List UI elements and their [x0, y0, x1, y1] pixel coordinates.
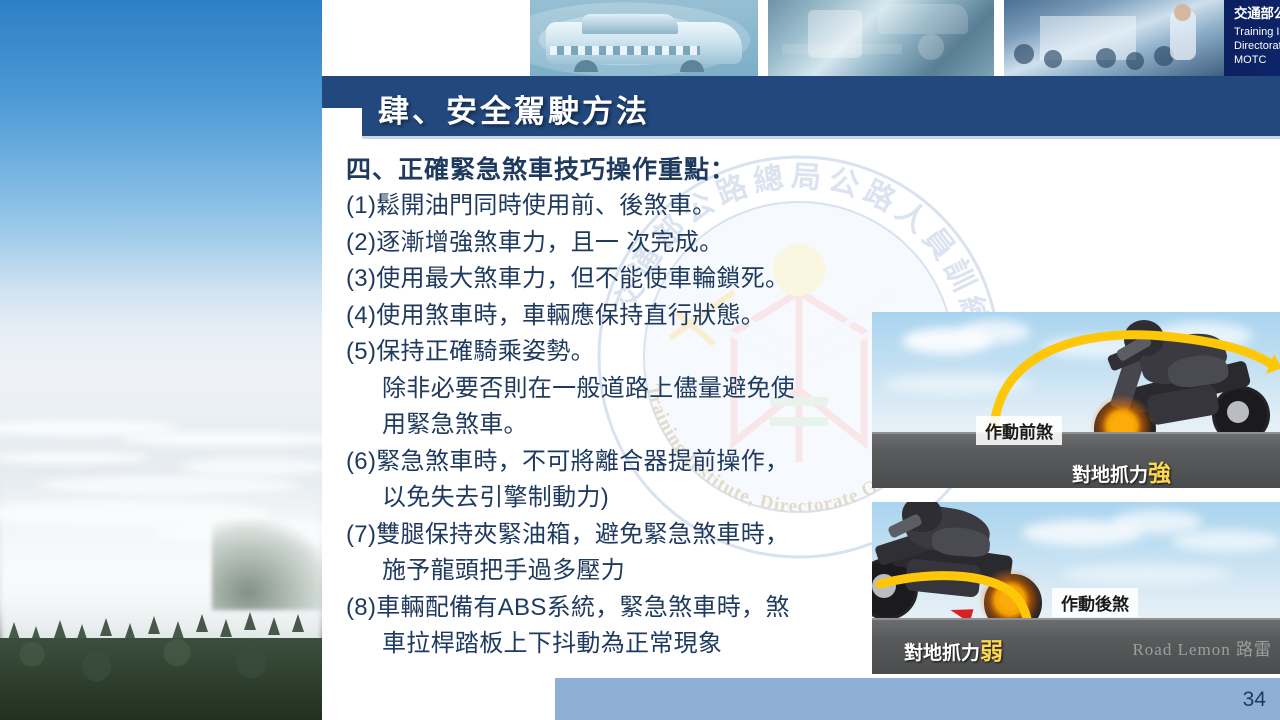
- content-heading: 四、正確緊急煞車技巧操作重點：: [346, 150, 906, 186]
- slide-footer-white: [322, 678, 555, 720]
- classroom-photo: [1004, 0, 1224, 76]
- slide-footer-bar: [555, 678, 1280, 720]
- content-line: (3)使用最大煞車力，但不能使車輪鎖死。: [346, 261, 906, 298]
- grip-value: 弱: [980, 638, 1003, 664]
- front-brake-figure: 作動前煞 對地抓力強: [872, 312, 1280, 488]
- page-title: 肆、安全駕駛方法: [378, 86, 1078, 131]
- content-line: 施予龍頭把手過多壓力: [346, 553, 906, 590]
- institute-brand-panel: 交通部公路總局公路人員訓練所 Training Institute, Direc…: [1224, 0, 1280, 76]
- slide-header-banner: 交通部公路總局公路人員訓練所 Training Institute, Direc…: [322, 0, 1280, 76]
- cloud-band: [120, 432, 322, 446]
- content-line: 以免失去引擎制動力): [346, 480, 906, 517]
- rear-brake-grip-caption: 對地抓力弱: [904, 632, 1003, 666]
- brand-english-line3: MOTC: [1234, 53, 1280, 67]
- grip-value: 強: [1148, 460, 1171, 486]
- content-line: (6)緊急煞車時，不可將離合器提前操作，: [346, 444, 906, 481]
- content-line: 除非必要否則在一般道路上儘量避免使: [346, 371, 906, 408]
- forest-canopy: [0, 638, 322, 720]
- slide-screen: 交通部公路總局公路人員訓練所 Training Institute, Direc…: [0, 0, 1280, 720]
- front-brake-grip-caption: 對地抓力強: [1072, 454, 1171, 488]
- content-line: 用緊急煞車。: [346, 407, 906, 444]
- mountain-ridge: [212, 520, 322, 610]
- brand-english-line1: Training Institute,: [1234, 25, 1280, 39]
- content-line: (2)逐漸增強煞車力，且一 次完成。: [346, 225, 906, 262]
- grip-prefix: 對地抓力: [1072, 465, 1148, 486]
- content-line: (5)保持正確騎乘姿勢。: [346, 334, 906, 371]
- crash-photo: [768, 0, 994, 76]
- road-lemon-watermark: Road Lemon 路雷: [1132, 635, 1272, 660]
- brand-chinese-name: 交通部公路總局公路人員訓練所: [1234, 6, 1280, 22]
- page-number: 34: [1243, 688, 1266, 712]
- slide-body: 四、正確緊急煞車技巧操作重點： (1)鬆開油門同時使用前、後煞車。 (2)逐漸增…: [346, 150, 906, 663]
- title-underline: [362, 136, 1280, 139]
- grip-prefix: 對地抓力: [904, 643, 980, 664]
- rear-brake-figure: 作動後煞 對地抓力弱 Road Lemon 路雷: [872, 502, 1280, 674]
- brand-english-line2: Directorate General of Highways,: [1234, 39, 1280, 53]
- tree-line: [0, 620, 322, 720]
- taxi-photo: [530, 0, 758, 76]
- content-line: (7)雙腿保持夾緊油箱，避免緊急煞車時，: [346, 517, 906, 554]
- title-bar-notch: [322, 108, 362, 141]
- content-line: (1)鬆開油門同時使用前、後煞車。: [346, 188, 906, 225]
- desktop-wallpaper: [0, 0, 322, 720]
- rear-brake-label: 作動後煞: [1052, 588, 1138, 617]
- cloud-band: [0, 452, 150, 464]
- front-brake-label: 作動前煞: [976, 416, 1062, 445]
- content-line: (4)使用煞車時，車輛應保持直行狀態。: [346, 298, 906, 335]
- presentation-slide: 交通部公路總局公路人員訓練所 Training Institute, Direc…: [322, 0, 1280, 720]
- content-line: 車拉桿踏板上下抖動為正常現象: [346, 626, 906, 663]
- content-line: (8)車輛配備有ABS系統，緊急煞車時，煞: [346, 590, 906, 627]
